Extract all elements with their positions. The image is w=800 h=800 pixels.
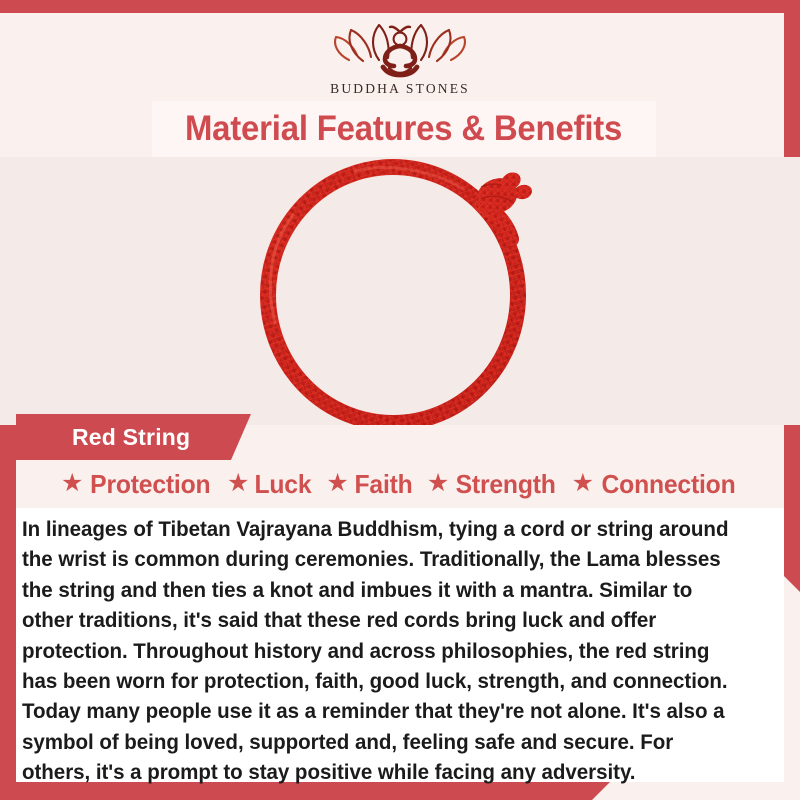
benefit-label: Faith [354, 469, 412, 500]
benefit-item-luck: ★ Luck [227, 469, 313, 500]
product-label-shape: Red String [16, 414, 251, 460]
benefit-label: Protection [91, 469, 211, 500]
star-icon: ★ [61, 471, 83, 496]
star-icon: ★ [572, 471, 594, 496]
description-panel: In lineages of Tibetan Vajrayana Buddhis… [16, 508, 784, 782]
top-accent-bar [0, 0, 800, 13]
star-icon: ★ [227, 471, 249, 496]
benefit-label: Strength [456, 469, 556, 500]
benefit-item-protection: ★ Protection [61, 469, 214, 500]
red-braided-string-bracelet-image [235, 157, 565, 425]
brand-block: BUDDHA STONES [0, 16, 800, 97]
benefit-label: Luck [255, 469, 312, 500]
benefit-item-strength: ★ Strength [427, 469, 559, 500]
product-label: Red String [72, 424, 190, 451]
lotus-meditation-icon [327, 16, 473, 78]
title-banner-inner: Material Features & Benefits [152, 101, 656, 157]
description-text: In lineages of Tibetan Vajrayana Buddhis… [22, 514, 742, 788]
star-icon: ★ [326, 471, 348, 496]
page-title: Material Features & Benefits [185, 109, 622, 149]
star-icon: ★ [427, 471, 449, 496]
title-banner: Material Features & Benefits [0, 101, 800, 157]
brand-name: BUDDHA STONES [0, 81, 800, 97]
infographic-canvas: BUDDHA STONES Material Features & Benefi… [0, 0, 800, 800]
benefits-row: ★ Protection ★ Luck ★ Faith ★ Strength ★… [16, 460, 784, 508]
product-label-banner: Red String [0, 414, 800, 460]
benefit-item-faith: ★ Faith [326, 469, 414, 500]
benefit-label: Connection [602, 469, 736, 500]
product-image-area [0, 157, 800, 425]
benefit-item-connection: ★ Connection [572, 469, 739, 500]
